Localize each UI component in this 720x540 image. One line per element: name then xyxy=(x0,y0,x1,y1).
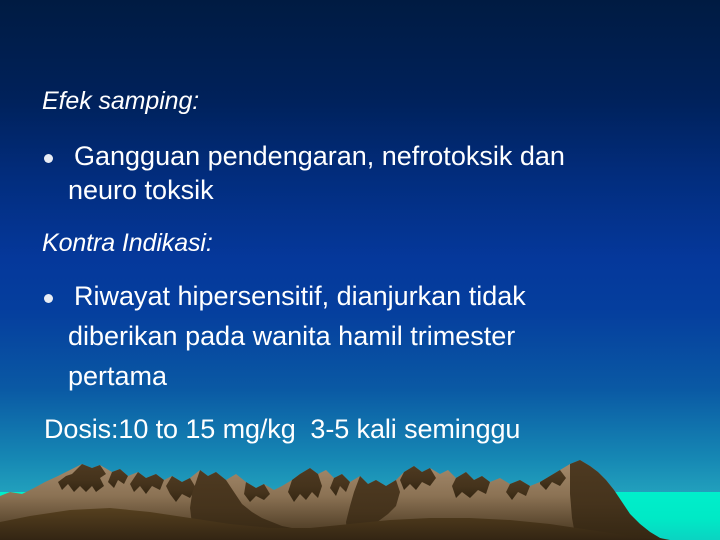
bullet-line-text: neuro toksik xyxy=(68,174,214,207)
presentation-slide: Efek samping: Gangguan pendengaran, nefr… xyxy=(0,0,720,540)
dosis-line: Dosis:10 to 15 mg/kg 3-5 kali seminggu xyxy=(44,413,520,446)
heading-efek-samping: Efek samping: xyxy=(42,86,199,116)
bullet-line-text: Riwayat hipersensitif, dianjurkan tidak xyxy=(74,280,526,313)
heading-kontra-indikasi: Kontra Indikasi: xyxy=(42,228,213,258)
bullet-dot-icon xyxy=(44,154,53,163)
bullet-dot-icon xyxy=(44,294,53,303)
slide-text-content: Efek samping: Gangguan pendengaran, nefr… xyxy=(0,0,720,540)
bullet-line-text: Gangguan pendengaran, nefrotoksik dan xyxy=(74,140,565,173)
bullet-line-text: diberikan pada wanita hamil trimester xyxy=(68,320,515,353)
bullet-line-text: pertama xyxy=(68,360,167,393)
